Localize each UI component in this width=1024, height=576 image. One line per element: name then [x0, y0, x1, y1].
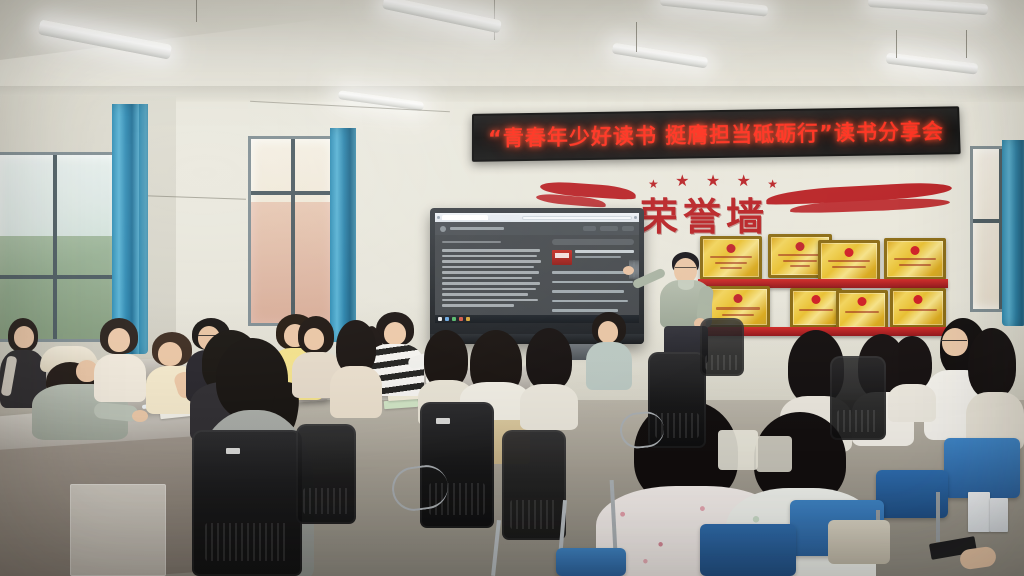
taskbar-icon[interactable]	[452, 317, 456, 321]
empty-chair[interactable]	[718, 430, 758, 470]
speaker-collar	[678, 280, 694, 290]
result-list-item[interactable]	[552, 300, 628, 303]
result-featured[interactable]	[552, 250, 634, 265]
light-wire	[196, 0, 197, 22]
avatar	[440, 226, 446, 232]
office-chair[interactable]	[700, 318, 744, 376]
chair-label	[226, 448, 240, 454]
office-chair[interactable]	[192, 430, 302, 576]
curtain-left	[112, 104, 148, 354]
browser-dot-icon	[437, 216, 440, 219]
table-modesty-panel	[70, 484, 166, 576]
start-icon[interactable]	[438, 317, 442, 321]
attendee	[888, 336, 936, 420]
bag	[828, 520, 890, 564]
blue-chair[interactable]	[944, 438, 1020, 498]
page-action-button[interactable]	[622, 226, 634, 231]
search-results-panel[interactable]	[549, 235, 639, 323]
attendee	[586, 312, 632, 388]
honor-wall-title: 荣誉墙	[640, 186, 769, 241]
led-banner: “青春年少好读书 挺膺担当砥砺行”读书分享会	[472, 106, 961, 162]
page-header	[435, 222, 639, 235]
article-text-panel	[435, 235, 549, 323]
drink-carton	[990, 498, 1008, 532]
page-content	[435, 235, 639, 323]
result-list-item[interactable]	[552, 271, 630, 274]
page-action-button[interactable]	[600, 226, 618, 231]
office-chair[interactable]	[830, 356, 886, 440]
taskbar-icon[interactable]	[466, 317, 470, 321]
taskbar-icon[interactable]	[445, 317, 449, 321]
classroom-photo: “青春年少好读书 挺膺担当砥砺行”读书分享会 ★ ★ ★ ★ ★ 荣誉墙	[0, 0, 1024, 576]
drink-carton	[968, 492, 990, 532]
office-chair[interactable]	[296, 424, 356, 524]
led-banner-text: “青春年少好读书 挺膺担当砥砺行”读书分享会	[488, 115, 944, 152]
attendee	[966, 328, 1024, 448]
chair-label	[436, 418, 450, 424]
blue-chair[interactable]	[700, 524, 796, 576]
window-left	[0, 152, 122, 342]
sidebar-icon[interactable]	[637, 260, 639, 279]
empty-chair[interactable]	[756, 436, 792, 472]
light-wire	[896, 30, 897, 58]
attendee	[94, 318, 146, 402]
result-list-item[interactable]	[552, 290, 624, 293]
browser-menu-icon[interactable]	[634, 216, 637, 219]
display-screen[interactable]	[435, 213, 639, 323]
search-input[interactable]	[552, 239, 634, 245]
document-thumbnail	[552, 250, 572, 265]
glasses-icon	[941, 340, 967, 345]
window-center	[248, 136, 336, 326]
browser-tab[interactable]	[442, 215, 488, 220]
chair-leg	[936, 492, 940, 542]
honor-plaque	[818, 240, 880, 282]
light-wire	[966, 30, 967, 58]
page-title	[450, 227, 504, 230]
blue-chair[interactable]	[556, 548, 626, 576]
office-chair[interactable]	[502, 430, 566, 540]
honor-plaque	[884, 238, 946, 280]
page-action-button[interactable]	[583, 226, 596, 231]
result-list-item[interactable]	[552, 281, 633, 284]
curtain-center	[330, 128, 356, 342]
honor-plaque	[790, 288, 842, 328]
light-wire	[636, 22, 637, 52]
attendee	[330, 320, 382, 416]
glasses-icon	[675, 267, 696, 271]
browser-toolbar[interactable]	[435, 213, 639, 222]
address-bar[interactable]	[522, 216, 632, 220]
browser-tab[interactable]	[490, 215, 520, 220]
speaker-hand	[623, 266, 634, 275]
curtain-right	[1002, 140, 1024, 326]
taskbar-icon[interactable]	[459, 317, 463, 321]
honor-plaque	[836, 290, 888, 330]
attendee	[520, 328, 578, 428]
